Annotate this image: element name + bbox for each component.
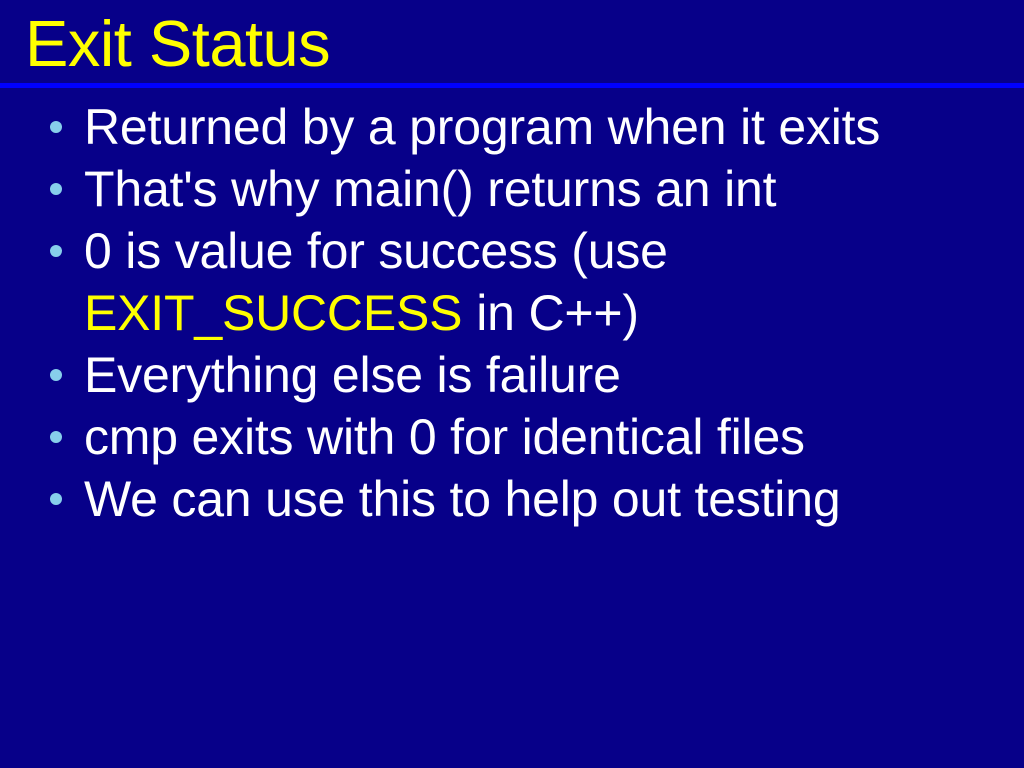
title-divider <box>0 83 1024 88</box>
list-item: That's why main() returns an int <box>0 158 1024 220</box>
slide-title-block: Exit Status <box>0 0 1024 88</box>
list-item: Everything else is failure <box>0 344 1024 406</box>
bullet-point-icon <box>50 431 62 443</box>
bullet-point-icon <box>50 121 62 133</box>
list-item-continuation: EXIT_SUCCESSin C++) <box>84 282 1004 344</box>
page-title: Exit Status <box>25 6 330 82</box>
list-item-label: Everything else is failure <box>84 344 1004 406</box>
list-item: 0 is value for success (use EXIT_SUCCESS… <box>0 220 1024 344</box>
list-item: cmp exits with 0 for identical files <box>0 406 1024 468</box>
bullet-point-icon <box>50 245 62 257</box>
bullet-list: Returned by a program when it exits That… <box>0 96 1024 530</box>
list-item: Returned by a program when it exits <box>0 96 1024 158</box>
list-item-label: cmp exits with 0 for identical files <box>84 406 1004 468</box>
exit-success-constant: EXIT_SUCCESS <box>84 285 462 341</box>
list-item-label: Returned by a program when it exits <box>84 96 1004 158</box>
bullet-point-icon <box>50 369 62 381</box>
list-item-label: That's why main() returns an int <box>84 158 1004 220</box>
list-item-label: We can use this to help out testing <box>84 468 1004 530</box>
bullet-point-icon <box>50 493 62 505</box>
bullet-point-icon <box>50 183 62 195</box>
list-item-label: 0 is value for success (use <box>84 220 1004 282</box>
list-item: We can use this to help out testing <box>0 468 1024 530</box>
list-item-continuation-label: in C++) <box>476 285 639 341</box>
presentation-slide: Exit Status Returned by a program when i… <box>0 0 1024 768</box>
